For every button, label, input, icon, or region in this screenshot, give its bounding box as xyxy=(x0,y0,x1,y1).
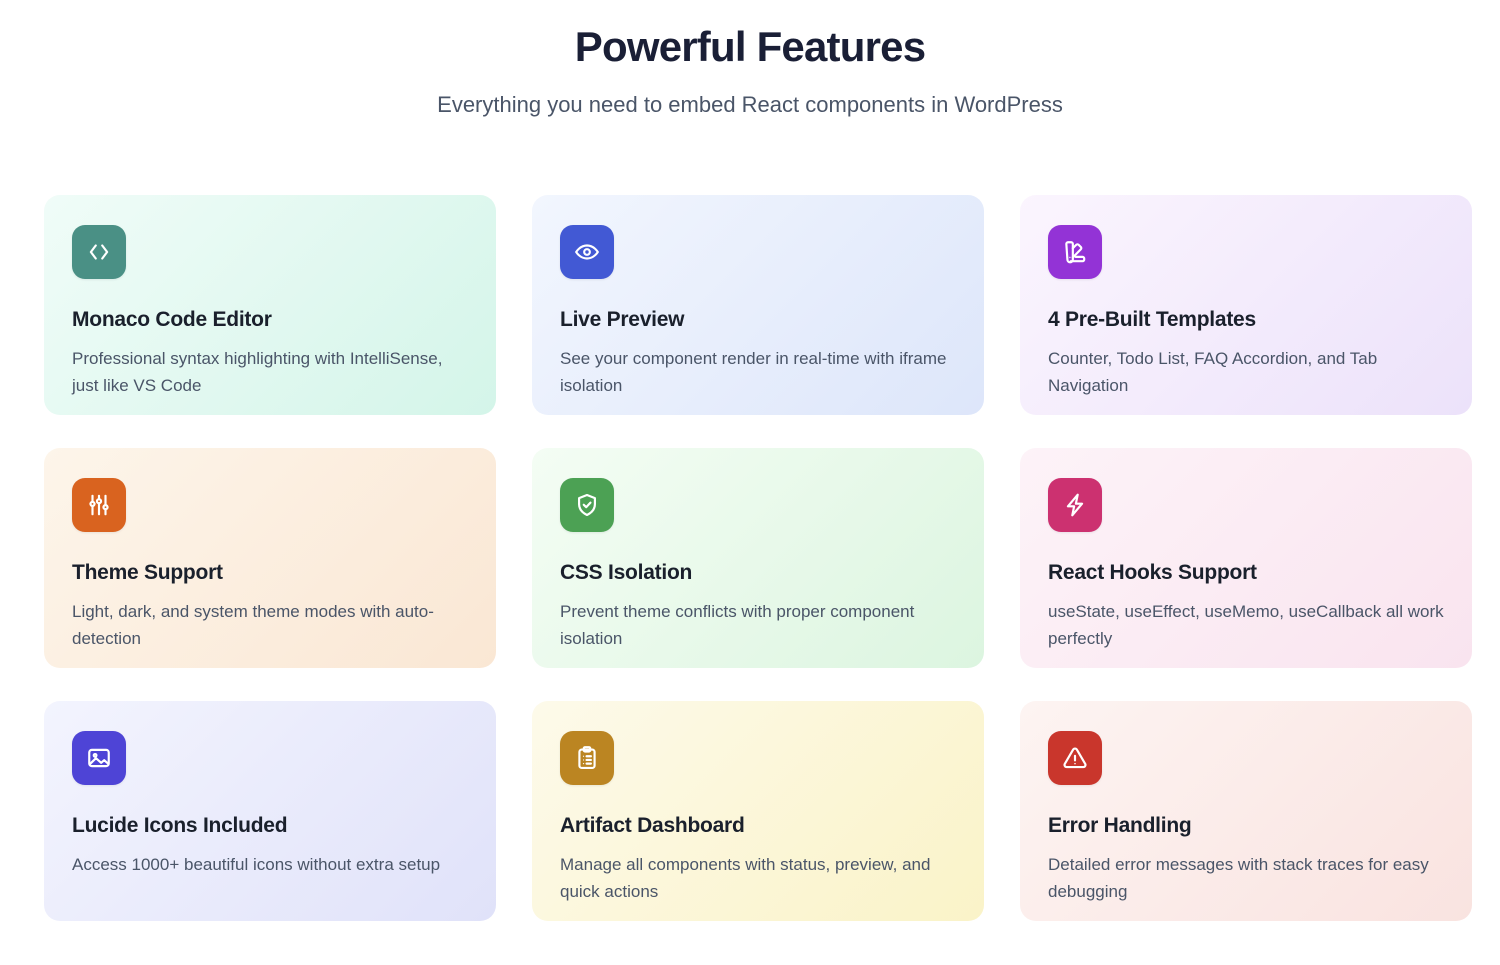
feature-icon-wrapper xyxy=(72,731,126,785)
feature-icon-wrapper xyxy=(560,731,614,785)
eye-icon xyxy=(574,239,600,265)
feature-icon-wrapper xyxy=(560,225,614,279)
clipboard-list-icon xyxy=(574,745,600,771)
feature-description: useState, useEffect, useMemo, useCallbac… xyxy=(1048,598,1444,652)
image-icon xyxy=(86,745,112,771)
feature-title: Theme Support xyxy=(72,560,468,585)
feature-icon-wrapper xyxy=(1048,225,1102,279)
feature-title: Artifact Dashboard xyxy=(560,813,956,838)
feature-title: React Hooks Support xyxy=(1048,560,1444,585)
feature-card-artifact-dashboard[interactable]: Artifact Dashboard Manage all components… xyxy=(532,701,984,921)
feature-icon-wrapper xyxy=(72,225,126,279)
page-title: Powerful Features xyxy=(0,22,1500,72)
shield-check-icon xyxy=(574,492,600,518)
feature-card-theme-support[interactable]: Theme Support Light, dark, and system th… xyxy=(44,448,496,668)
feature-icon-wrapper xyxy=(1048,478,1102,532)
code-icon xyxy=(86,239,112,265)
feature-title: CSS Isolation xyxy=(560,560,956,585)
hero-section: Powerful Features Everything you need to… xyxy=(0,0,1500,119)
feature-title: Live Preview xyxy=(560,307,956,332)
sliders-icon xyxy=(86,492,112,518)
feature-card-error-handling[interactable]: Error Handling Detailed error messages w… xyxy=(1020,701,1472,921)
feature-description: See your component render in real-time w… xyxy=(560,345,956,399)
feature-card-pre-built-templates[interactable]: 4 Pre-Built Templates Counter, Todo List… xyxy=(1020,195,1472,415)
feature-description: Prevent theme conflicts with proper comp… xyxy=(560,598,956,652)
feature-description: Counter, Todo List, FAQ Accordion, and T… xyxy=(1048,345,1444,399)
page-subtitle: Everything you need to embed React compo… xyxy=(0,90,1500,120)
feature-description: Light, dark, and system theme modes with… xyxy=(72,598,468,652)
features-grid: Monaco Code Editor Professional syntax h… xyxy=(44,195,1456,921)
feature-card-lucide-icons-included[interactable]: Lucide Icons Included Access 1000+ beaut… xyxy=(44,701,496,921)
feature-title: Monaco Code Editor xyxy=(72,307,468,332)
feature-description: Detailed error messages with stack trace… xyxy=(1048,851,1444,905)
feature-icon-wrapper xyxy=(560,478,614,532)
feature-description: Professional syntax highlighting with In… xyxy=(72,345,468,399)
feature-title: Lucide Icons Included xyxy=(72,813,468,838)
swatch-book-icon xyxy=(1062,239,1088,265)
feature-card-react-hooks-support[interactable]: React Hooks Support useState, useEffect,… xyxy=(1020,448,1472,668)
alert-triangle-icon xyxy=(1062,745,1088,771)
feature-title: 4 Pre-Built Templates xyxy=(1048,307,1444,332)
feature-title: Error Handling xyxy=(1048,813,1444,838)
zap-icon xyxy=(1062,492,1088,518)
feature-description: Manage all components with status, previ… xyxy=(560,851,956,905)
feature-icon-wrapper xyxy=(72,478,126,532)
feature-card-live-preview[interactable]: Live Preview See your component render i… xyxy=(532,195,984,415)
feature-card-css-isolation[interactable]: CSS Isolation Prevent theme conflicts wi… xyxy=(532,448,984,668)
feature-card-monaco-code-editor[interactable]: Monaco Code Editor Professional syntax h… xyxy=(44,195,496,415)
feature-icon-wrapper xyxy=(1048,731,1102,785)
feature-description: Access 1000+ beautiful icons without ext… xyxy=(72,851,468,878)
features-page: Powerful Features Everything you need to… xyxy=(0,0,1500,965)
